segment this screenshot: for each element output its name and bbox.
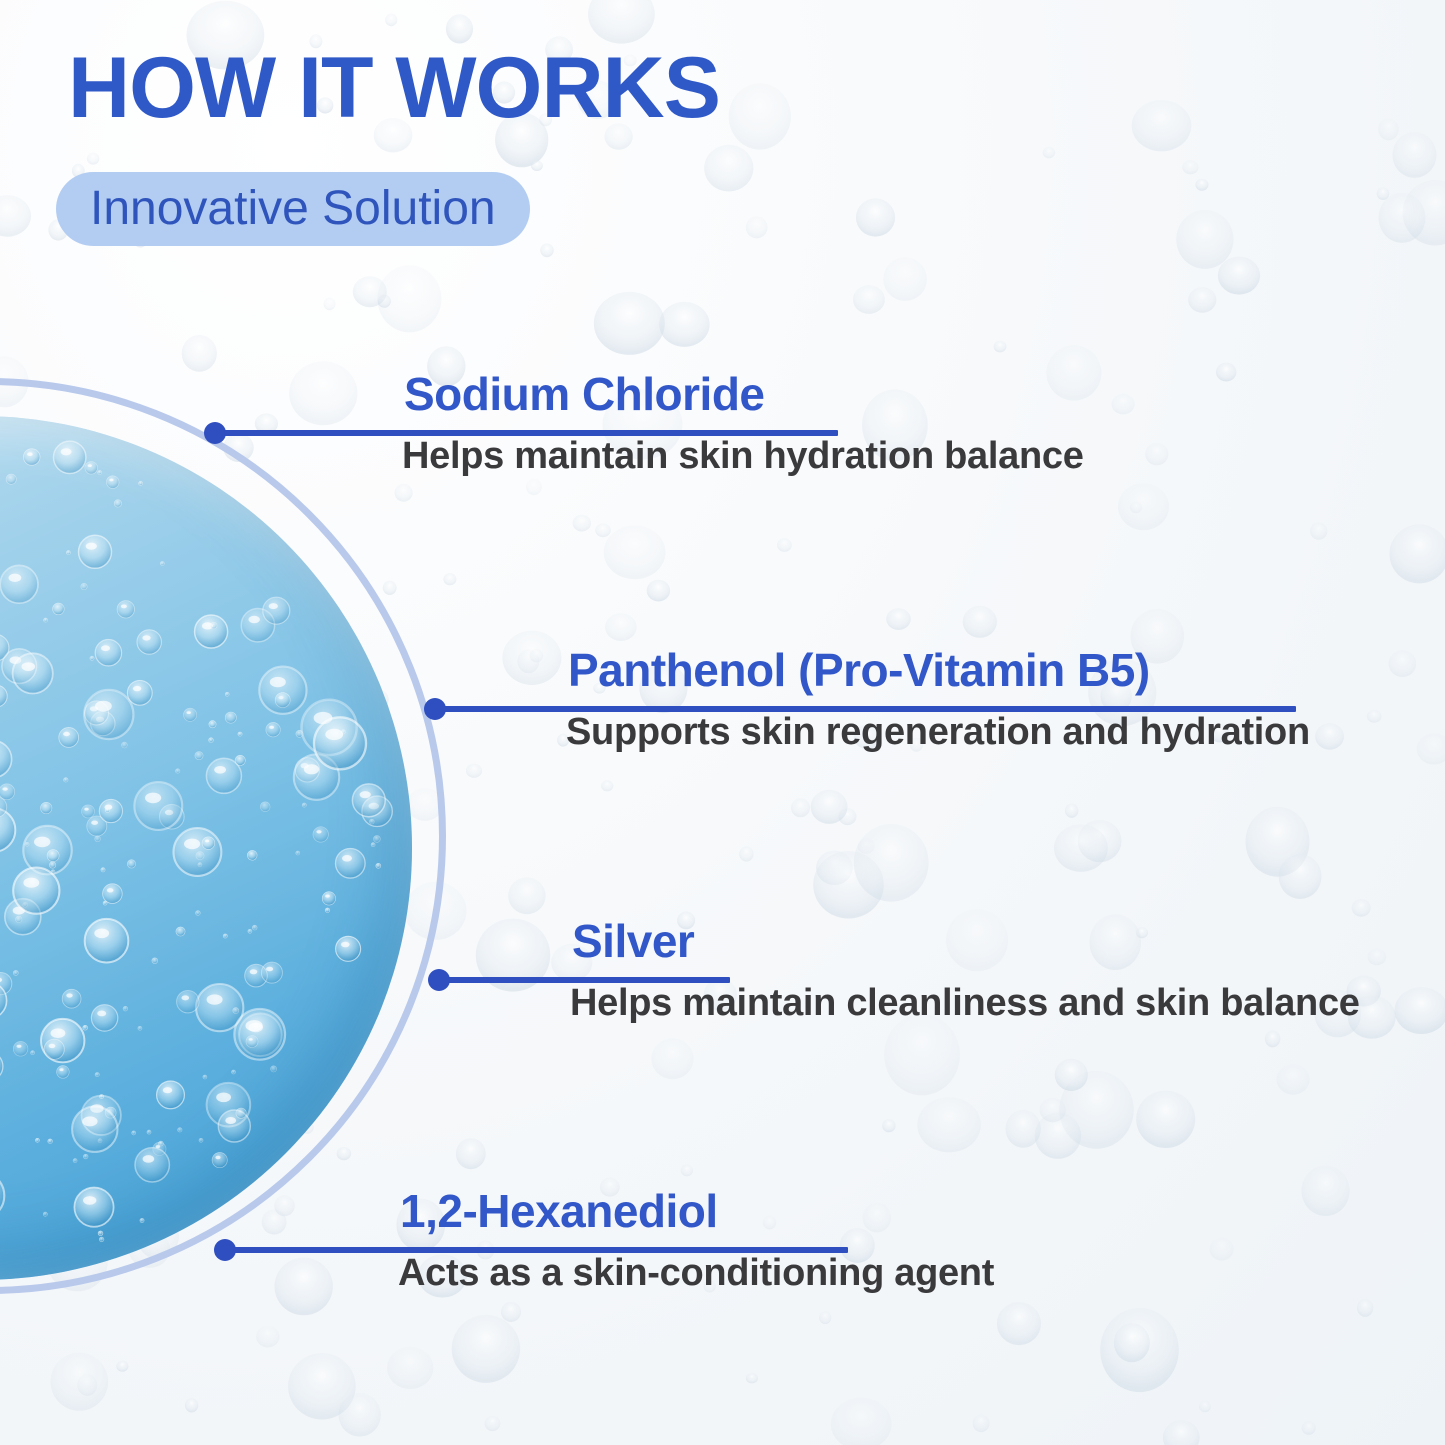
infographic-canvas: HOW IT WORKS Innovative Solution Sodium … bbox=[0, 0, 1445, 1445]
connector-dot-icon bbox=[428, 969, 450, 991]
callout-description: Acts as a skin-conditioning agent bbox=[398, 1251, 994, 1295]
subtitle-badge-label: Innovative Solution bbox=[90, 183, 496, 235]
gel-bubbles bbox=[0, 416, 412, 1280]
callout-headline: 1,2-Hexanediol bbox=[400, 1185, 718, 1237]
callout-description: Helps maintain skin hydration balance bbox=[402, 434, 1084, 478]
callout-headline: Panthenol (Pro-Vitamin B5) bbox=[568, 644, 1150, 696]
connector-dot-icon bbox=[204, 422, 226, 444]
page-title: HOW IT WORKS bbox=[68, 40, 720, 136]
callout-description: Supports skin regeneration and hydration bbox=[566, 710, 1310, 754]
callout-description: Helps maintain cleanliness and skin bala… bbox=[570, 981, 1360, 1025]
connector-dot-icon bbox=[424, 698, 446, 720]
subtitle-badge: Innovative Solution bbox=[56, 172, 530, 246]
callout-headline: Sodium Chloride bbox=[404, 368, 765, 420]
gel-circle bbox=[0, 416, 412, 1280]
callout-headline: Silver bbox=[572, 915, 694, 967]
connector-dot-icon bbox=[214, 1239, 236, 1261]
